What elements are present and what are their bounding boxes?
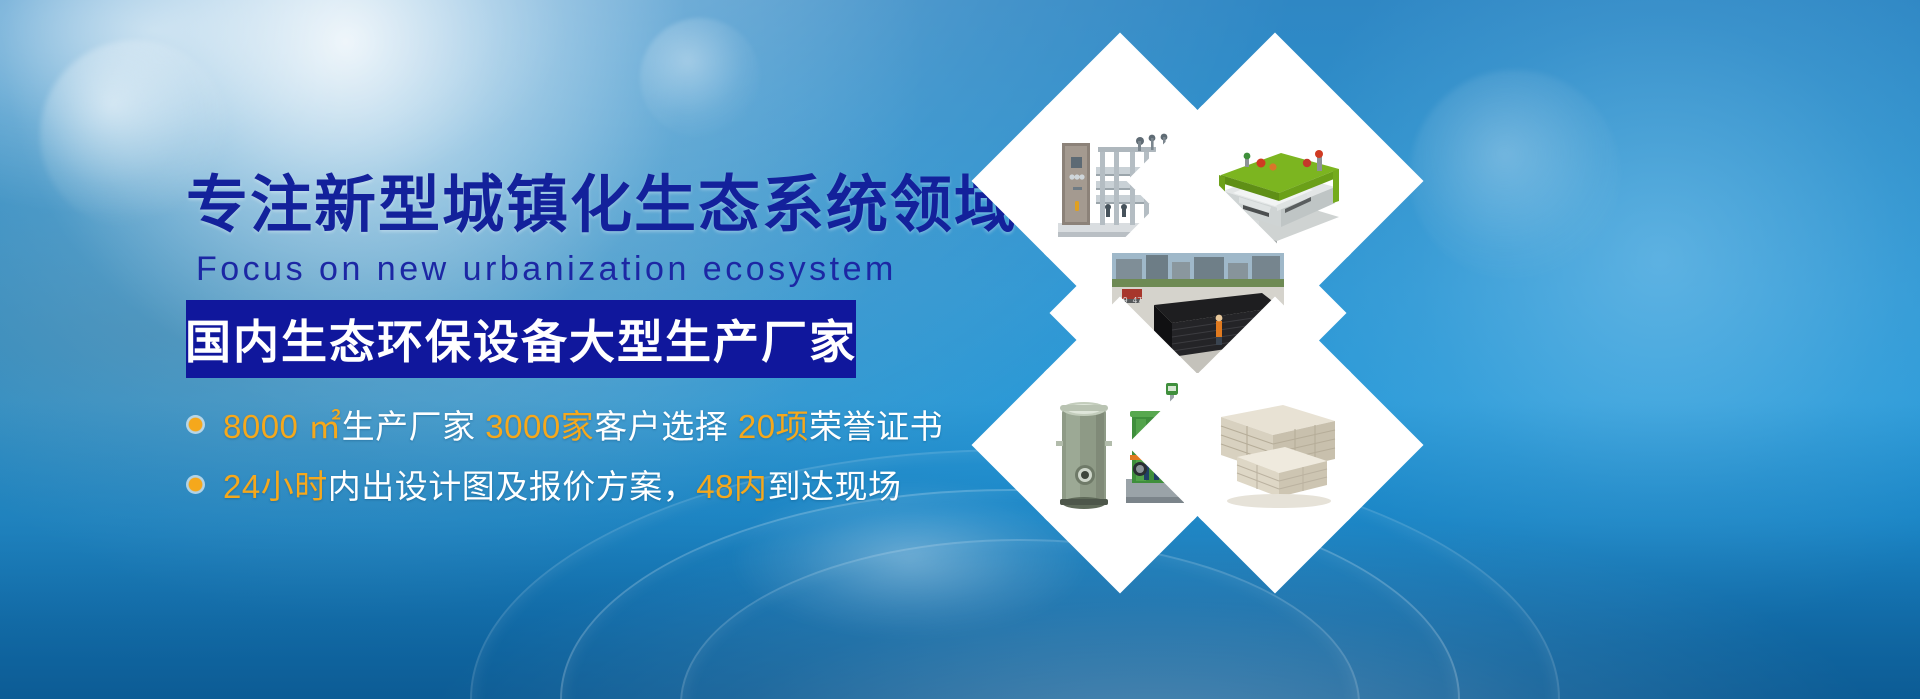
benefit-plain: 客户选择 xyxy=(594,408,728,445)
benefit-highlight: 20项 xyxy=(728,408,809,445)
aerated-block-stack-photo xyxy=(1199,369,1351,521)
benefit-plain: 到达现场 xyxy=(767,468,901,505)
benefit-highlight: 24小时 xyxy=(223,468,328,505)
benefit-highlight: 8000 ㎡ xyxy=(223,408,342,445)
list-item: 24小时内出设计图及报价方案，48内到达现场 xyxy=(186,460,926,508)
subtitle-english: Focus on new urbanization ecosystem xyxy=(196,250,897,289)
hero-banner: 专注新型城镇化生态系统领域 Focus on new urbanization … xyxy=(0,0,1920,699)
page-title: 专注新型城镇化生态系统领域 xyxy=(186,175,1018,237)
ribbon-label: 国内生态环保设备大型生产厂家 xyxy=(185,306,857,372)
ribbon-callout: 国内生态环保设备大型生产厂家 xyxy=(186,300,856,378)
benefit-text-2: 24小时内出设计图及报价方案，48内到达现场 xyxy=(223,460,901,508)
bullet-dot-icon xyxy=(186,415,205,434)
benefit-text-1: 8000 ㎡生产厂家 3000家客户选择 20项荣誉证书 xyxy=(223,400,943,448)
benefit-highlight: 48内 xyxy=(696,468,767,505)
benefit-plain: 生产厂家 xyxy=(342,408,476,445)
benefit-plain: 内出设计图及报价方案， xyxy=(328,468,697,505)
list-item: 8000 ㎡生产厂家 3000家客户选择 20项荣誉证书 xyxy=(186,400,926,448)
product-diamond-grid: 39 47 6 9 2020-07-21 xyxy=(905,58,1325,508)
benefit-highlight: 3000家 xyxy=(476,408,595,445)
bullet-dot-icon xyxy=(186,475,205,494)
small-bubble-icon-3 xyxy=(1410,70,1620,280)
benefit-list: 8000 ㎡生产厂家 3000家客户选择 20项荣誉证书 24小时内出设计图及报… xyxy=(186,400,926,520)
banner-text-column: 专注新型城镇化生态系统领域 Focus on new urbanization … xyxy=(0,0,920,699)
right-glow xyxy=(1280,0,1920,640)
